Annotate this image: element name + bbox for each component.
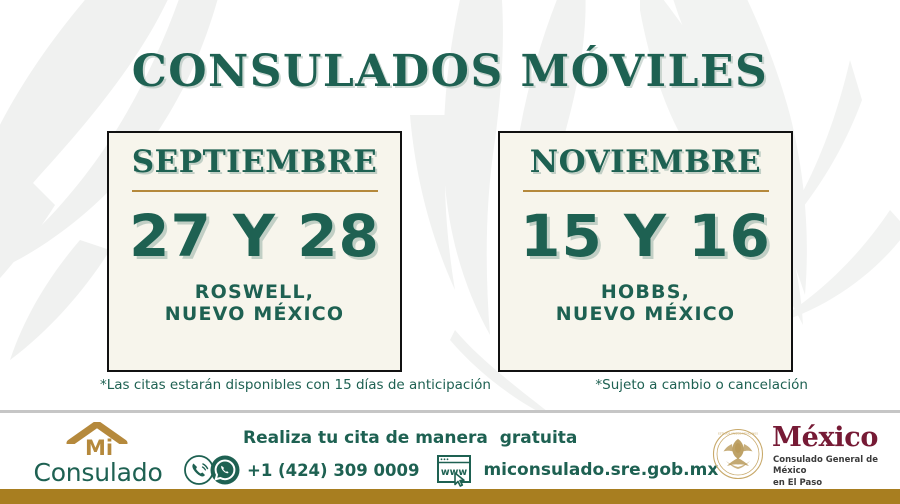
card-days-label: 15 Y 16 — [520, 206, 771, 267]
page-title: CONSULADOS MÓVILES — [0, 46, 900, 97]
mexico-coat-of-arms-icon: ESTADOS UNIDOS MEXICANOS — [712, 428, 764, 480]
mexico-wordmark: México — [772, 424, 878, 451]
website-url[interactable]: miconsulado.sre.gob.mx — [483, 460, 718, 480]
date-card-november: NOVIEMBRE 15 Y 16 HOBBS, NUEVO MÉXICO — [498, 131, 793, 372]
date-cards-container: SEPTIEMBRE 27 Y 28 ROSWELL, NUEVO MÉXICO… — [107, 131, 793, 372]
card-divider-rule — [132, 190, 378, 193]
date-card-september: SEPTIEMBRE 27 Y 28 ROSWELL, NUEVO MÉXICO — [107, 131, 402, 372]
contact-row: +1 (424) 309 0009 www miconsulado.sre.go… — [183, 452, 718, 488]
poster-canvas: CONSULADOS MÓVILES SEPTIEMBRE 27 Y 28 RO… — [0, 0, 900, 504]
svg-text:ESTADOS UNIDOS MEXICANOS: ESTADOS UNIDOS MEXICANOS — [718, 431, 758, 435]
card-days-label: 27 Y 28 — [129, 206, 380, 267]
card-month-label: SEPTIEMBRE — [132, 145, 377, 181]
mexico-consulate-subtitle: Consulado General de México en El Paso — [773, 455, 898, 489]
mi-consulado-logo: Mi Consulado — [18, 418, 178, 486]
phone-number[interactable]: +1 (424) 309 0009 — [247, 461, 419, 480]
card-city-label: HOBBS, NUEVO MÉXICO — [556, 281, 736, 326]
footer-headline: Realiza tu cita de manera gratuita — [243, 428, 577, 448]
footnotes-row: *Las citas estarán disponibles con 15 dí… — [96, 377, 814, 393]
svg-text:www: www — [441, 467, 468, 478]
whatsapp-icon[interactable] — [209, 454, 241, 486]
mi-consulado-logo-top-word: Mi — [68, 438, 130, 459]
card-month-label: NOVIEMBRE — [530, 145, 761, 181]
mexico-government-brand: ESTADOS UNIDOS MEXICANOS México Consulad… — [712, 424, 892, 486]
footer-bottom-gold-bar — [0, 489, 900, 504]
footnote-appointments: *Las citas estarán disponibles con 15 dí… — [100, 377, 491, 393]
card-divider-rule — [523, 190, 769, 193]
browser-www-icon[interactable]: www — [435, 453, 475, 487]
card-city-label: ROSWELL, NUEVO MÉXICO — [165, 281, 345, 326]
mi-consulado-logo-bottom-word: Consulado — [18, 460, 178, 485]
footnote-subject-to-change: *Sujeto a cambio o cancelación — [595, 377, 808, 393]
